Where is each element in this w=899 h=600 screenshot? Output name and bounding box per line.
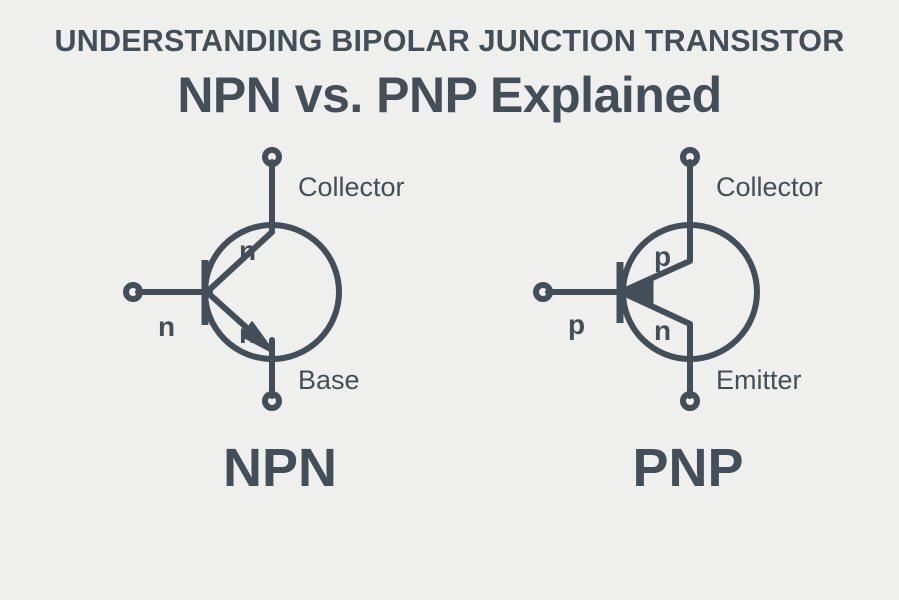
npn-bottom-terminal-ring <box>265 394 279 408</box>
pnp-doping-label-lower: n <box>654 315 671 346</box>
npn-left-terminal-ring <box>126 285 140 299</box>
npn-doping-label-upper: n <box>239 235 256 266</box>
pnp-caption: PNP <box>508 437 868 499</box>
npn-doping-label-left: n <box>158 311 175 342</box>
pnp-bottom-terminal-label: Emitter <box>716 365 802 395</box>
heading-block: UNDERSTANDING BIPOLAR JUNCTION TRANSISTO… <box>0 0 899 122</box>
npn-bottom-terminal-label: Base <box>298 365 360 395</box>
npn-diagram: Collector Base n n n <box>110 140 470 430</box>
npn-doping-label-lower: n <box>239 318 256 349</box>
poster-canvas: UNDERSTANDING BIPOLAR JUNCTION TRANSISTO… <box>0 0 899 600</box>
page-title: NPN vs. PNP Explained <box>0 57 899 122</box>
npn-top-terminal-ring <box>265 150 279 164</box>
page-title-kicker: UNDERSTANDING BIPOLAR JUNCTION TRANSISTO… <box>0 0 899 57</box>
pnp-left-terminal-ring <box>536 285 550 299</box>
npn-schematic-svg: Collector Base n n n <box>110 140 470 430</box>
pnp-doping-label-upper: p <box>654 241 671 272</box>
pnp-top-terminal-label: Collector <box>716 172 823 202</box>
pnp-schematic-svg: Collector Emitter p n p <box>520 140 880 430</box>
pnp-diagram: Collector Emitter p n p <box>520 140 880 430</box>
pnp-bottom-terminal-ring <box>683 394 697 408</box>
pnp-doping-label-left: p <box>568 309 585 340</box>
pnp-top-terminal-ring <box>683 150 697 164</box>
npn-top-terminal-label: Collector <box>298 172 405 202</box>
npn-caption: NPN <box>100 437 460 499</box>
